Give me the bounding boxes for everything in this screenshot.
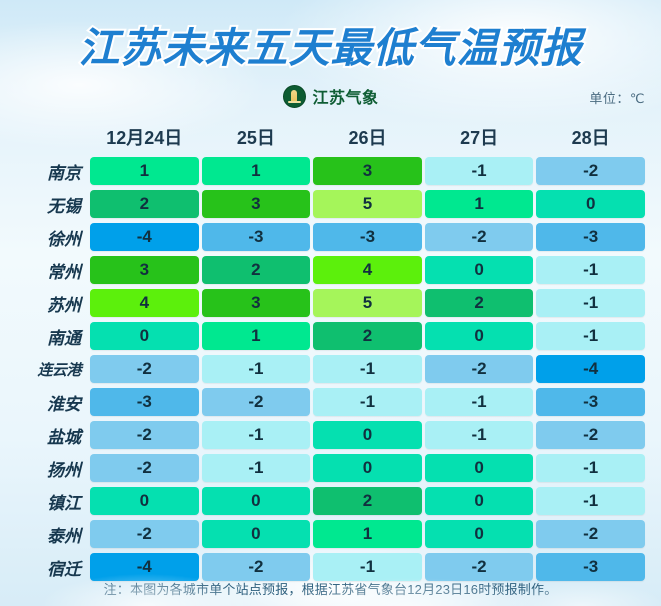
temperature-cells: -3-2-1-1-3 (90, 388, 661, 416)
temperature-cells: -4-2-1-2-3 (90, 553, 661, 581)
city-label: 宿迁 (0, 555, 90, 580)
temperature-cell: -4 (536, 355, 645, 383)
temperature-cell: 0 (90, 487, 199, 515)
temperature-cell: -2 (202, 388, 311, 416)
table-row: 连云港-2-1-1-2-4 (0, 353, 661, 385)
temperature-cell: -1 (536, 322, 645, 350)
forecast-table: 12月24日 25日 26日 27日 28日 南京113-1-2无锡23510徐… (0, 118, 661, 584)
temperature-cell: 2 (313, 322, 422, 350)
temperature-cell: -1 (536, 289, 645, 317)
temperature-cell: 1 (313, 520, 422, 548)
temperature-cell: -1 (202, 421, 311, 449)
temperature-cell: 2 (425, 289, 534, 317)
temperature-cell: -2 (536, 421, 645, 449)
table-header-row: 12月24日 25日 26日 27日 28日 (0, 118, 661, 155)
city-label: 徐州 (0, 225, 90, 250)
city-label: 南京 (0, 159, 90, 184)
city-label: 镇江 (0, 489, 90, 514)
temperature-cell: -3 (536, 223, 645, 251)
temperature-cell: 3 (90, 256, 199, 284)
temperature-cell: -1 (536, 256, 645, 284)
logo-label: 江苏气象 (312, 84, 378, 108)
temperature-cell: -2 (425, 223, 534, 251)
table-row: 徐州-4-3-3-2-3 (0, 221, 661, 253)
temperature-cell: -2 (425, 553, 534, 581)
temperature-cell: -3 (313, 223, 422, 251)
temperature-cell: 1 (202, 322, 311, 350)
temperature-cell: 0 (202, 520, 311, 548)
table-row: 镇江0020-1 (0, 485, 661, 517)
temperature-cell: -1 (536, 487, 645, 515)
temperature-cell: -3 (536, 553, 645, 581)
temperature-cells: 23510 (90, 190, 661, 218)
date-headers: 12月24日 25日 26日 27日 28日 (90, 124, 661, 150)
temperature-cell: 2 (313, 487, 422, 515)
city-label: 连云港 (0, 359, 90, 380)
temperature-cell: -1 (313, 355, 422, 383)
temperature-cells: -2-1-1-2-4 (90, 355, 661, 383)
weather-forecast-infographic: 江苏未来五天最低气温预报 江苏气象 单位：℃ 12月24日 25日 26日 27… (0, 0, 661, 606)
temperature-cell: 0 (202, 487, 311, 515)
table-row: 南京113-1-2 (0, 155, 661, 187)
date-header-1: 25日 (202, 124, 311, 150)
temperature-cell: -2 (202, 553, 311, 581)
table-row: 盐城-2-10-1-2 (0, 419, 661, 451)
city-label: 苏州 (0, 291, 90, 316)
temperature-cell: -4 (90, 223, 199, 251)
temperature-cell: -3 (90, 388, 199, 416)
temperature-cell: -2 (90, 355, 199, 383)
temperature-cell: 4 (90, 289, 199, 317)
temperature-cells: 0020-1 (90, 487, 661, 515)
temperature-cells: 4352-1 (90, 289, 661, 317)
temperature-cell: 5 (313, 190, 422, 218)
unit-label: 单位：℃ (589, 88, 645, 107)
temperature-cell: 1 (90, 157, 199, 185)
temperature-cells: -2010-2 (90, 520, 661, 548)
temperature-cells: -4-3-3-2-3 (90, 223, 661, 251)
temperature-cell: 0 (313, 454, 422, 482)
temperature-cell: 0 (425, 454, 534, 482)
temperature-cell: -1 (425, 421, 534, 449)
date-header-3: 27日 (425, 124, 534, 150)
temperature-cell: -1 (313, 553, 422, 581)
city-label: 扬州 (0, 456, 90, 481)
footnote: 注：本图为各城市单个站点预报，根据江苏省气象台12月23日16时预报制作。 (0, 579, 661, 598)
temperature-cell: -3 (202, 223, 311, 251)
page-title: 江苏未来五天最低气温预报 (0, 14, 661, 74)
table-row: 南通0120-1 (0, 320, 661, 352)
city-label: 常州 (0, 258, 90, 283)
temperature-cell: -4 (90, 553, 199, 581)
temperature-cell: 3 (202, 190, 311, 218)
temperature-cell: 1 (202, 157, 311, 185)
table-row: 淮安-3-2-1-1-3 (0, 386, 661, 418)
temperature-cell: -2 (90, 520, 199, 548)
temperature-cell: -2 (90, 421, 199, 449)
temperature-cell: 0 (425, 520, 534, 548)
temperature-cell: -2 (536, 520, 645, 548)
temperature-cell: -1 (536, 454, 645, 482)
temperature-cell: 2 (90, 190, 199, 218)
temperature-cell: 0 (90, 322, 199, 350)
temperature-cell: 5 (313, 289, 422, 317)
temperature-cell: -1 (313, 388, 422, 416)
temperature-cells: -2-10-1-2 (90, 421, 661, 449)
temperature-cell: 3 (202, 289, 311, 317)
date-header-0: 12月24日 (90, 124, 199, 150)
temperature-cell: -1 (202, 355, 311, 383)
temperature-cell: 0 (425, 322, 534, 350)
temperature-cell: -2 (90, 454, 199, 482)
temperature-cell: 0 (536, 190, 645, 218)
date-header-2: 26日 (313, 124, 422, 150)
temperature-cells: 113-1-2 (90, 157, 661, 185)
table-row: 无锡23510 (0, 188, 661, 220)
temperature-cell: 4 (313, 256, 422, 284)
jiangsu-meteorology-logo: 江苏气象 (282, 84, 378, 108)
city-label: 泰州 (0, 522, 90, 547)
meteorology-badge-icon (282, 85, 305, 108)
temperature-cell: 0 (425, 487, 534, 515)
table-row: 苏州4352-1 (0, 287, 661, 319)
table-body: 南京113-1-2无锡23510徐州-4-3-3-2-3常州3240-1苏州43… (0, 155, 661, 583)
temperature-cell: 0 (425, 256, 534, 284)
city-label: 淮安 (0, 390, 90, 415)
city-label: 南通 (0, 324, 90, 349)
table-row: 扬州-2-100-1 (0, 452, 661, 484)
temperature-cell: 3 (313, 157, 422, 185)
table-row: 泰州-2010-2 (0, 518, 661, 550)
temperature-cell: 0 (313, 421, 422, 449)
temperature-cell: -1 (202, 454, 311, 482)
temperature-cell: -3 (536, 388, 645, 416)
temperature-cell: -2 (536, 157, 645, 185)
temperature-cells: 3240-1 (90, 256, 661, 284)
temperature-cell: -2 (425, 355, 534, 383)
city-label: 无锡 (0, 192, 90, 217)
city-label: 盐城 (0, 423, 90, 448)
temperature-cell: -1 (425, 388, 534, 416)
temperature-cell: 1 (425, 190, 534, 218)
temperature-cells: 0120-1 (90, 322, 661, 350)
brand-logo-row: 江苏气象 (0, 84, 661, 110)
temperature-cells: -2-100-1 (90, 454, 661, 482)
table-row: 常州3240-1 (0, 254, 661, 286)
temperature-cell: 2 (202, 256, 311, 284)
date-header-4: 28日 (536, 124, 645, 150)
temperature-cell: -1 (425, 157, 534, 185)
